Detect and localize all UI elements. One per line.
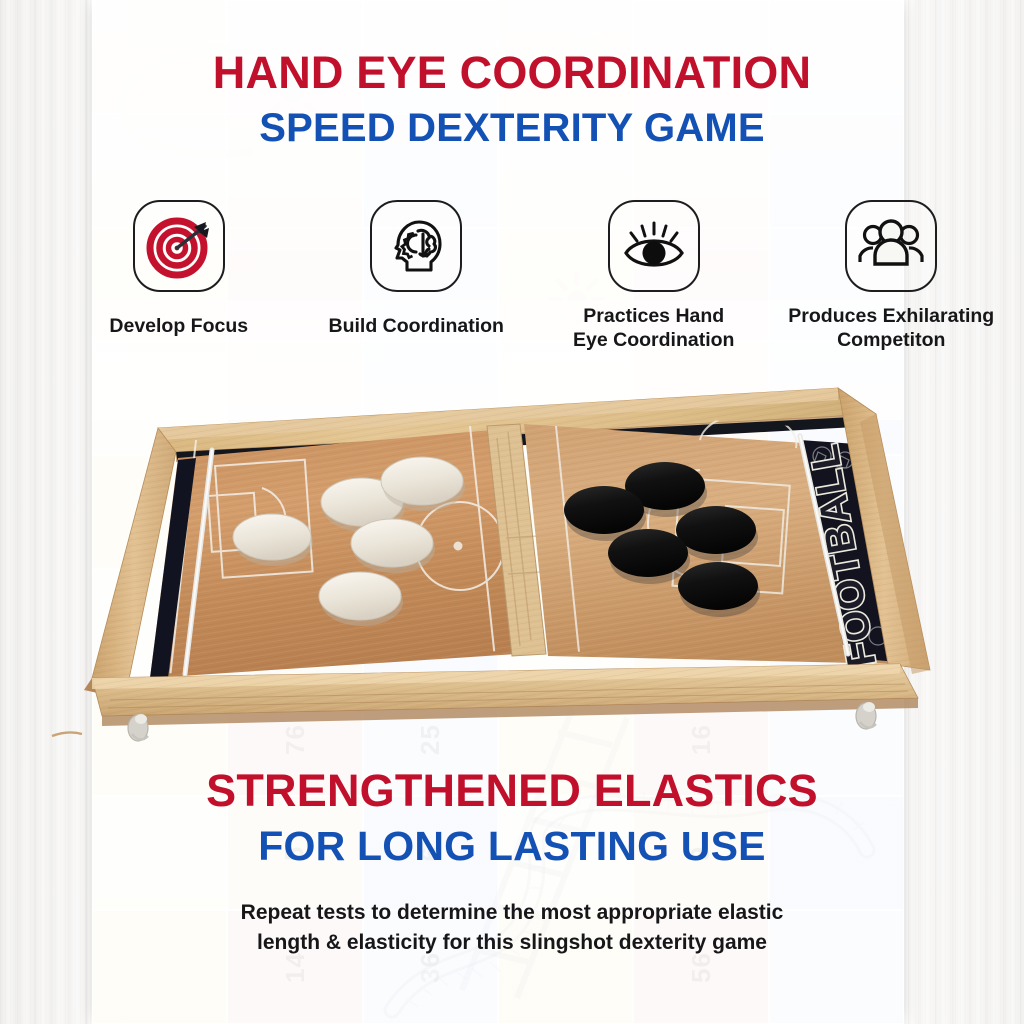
elastic-anchor-peg-left bbox=[128, 714, 148, 741]
icon-box-practices-hand-eye bbox=[608, 200, 700, 292]
elastic-anchor-peg-right bbox=[856, 702, 876, 729]
people-group-icon bbox=[858, 219, 924, 273]
product-photo-sling-puck-board: FOOTBALL bbox=[0, 378, 1024, 788]
white-puck bbox=[319, 572, 401, 620]
target-arrow-icon bbox=[146, 213, 212, 279]
feature-produces-competition: Produces Exhilarating Competiton bbox=[773, 200, 1011, 353]
feature-label-line2: Competiton bbox=[788, 328, 994, 352]
feature-label-develop-focus: Develop Focus bbox=[109, 314, 248, 338]
bottom-subtext-line2: length & elasticity for this slingshot d… bbox=[0, 928, 1024, 958]
icon-box-develop-focus bbox=[133, 200, 225, 292]
black-puck bbox=[676, 506, 756, 554]
black-puck bbox=[608, 529, 688, 577]
top-headline-line1: HAND EYE COORDINATION bbox=[0, 50, 1024, 95]
feature-label-produces-competition: Produces Exhilarating Competiton bbox=[788, 304, 994, 353]
product-marketing-image: 948795869685762516569143656 bbox=[0, 0, 1024, 1024]
feature-label-build-coordination: Build Coordination bbox=[329, 314, 504, 338]
top-headline-line2: SPEED DEXTERITY GAME bbox=[0, 108, 1024, 148]
feature-build-coordination: Build Coordination bbox=[298, 200, 536, 353]
feature-label-line1: Produces Exhilarating bbox=[788, 304, 994, 328]
icon-box-produces-competition bbox=[845, 200, 937, 292]
bottom-headline: STRENGTHENED ELASTICS FOR LONG LASTING U… bbox=[0, 768, 1024, 867]
eye-icon bbox=[620, 215, 688, 277]
feature-practices-hand-eye: Practices Hand Eye Coordination bbox=[535, 200, 773, 353]
bottom-headline-line2: FOR LONG LASTING USE bbox=[0, 826, 1024, 867]
wood-shaving-detail bbox=[52, 732, 82, 736]
black-puck bbox=[564, 486, 644, 534]
sling-puck-board-illustration: FOOTBALL bbox=[0, 378, 1024, 788]
feature-label-practices-hand-eye: Practices Hand Eye Coordination bbox=[573, 304, 734, 353]
white-puck bbox=[233, 514, 311, 560]
bottom-subtext: Repeat tests to determine the most appro… bbox=[0, 898, 1024, 959]
bottom-headline-line1: STRENGTHENED ELASTICS bbox=[0, 768, 1024, 813]
bottom-subtext-line1: Repeat tests to determine the most appro… bbox=[0, 898, 1024, 928]
icon-box-build-coordination bbox=[370, 200, 462, 292]
feature-label-line2: Eye Coordination bbox=[573, 328, 734, 352]
black-puck bbox=[678, 562, 758, 610]
white-puck bbox=[351, 519, 433, 567]
white-puck bbox=[381, 457, 463, 505]
brain-head-gear-icon bbox=[385, 215, 447, 277]
feature-list: Develop Focus Build Coordination bbox=[60, 200, 1010, 353]
top-headline: HAND EYE COORDINATION SPEED DEXTERITY GA… bbox=[0, 50, 1024, 148]
feature-develop-focus: Develop Focus bbox=[60, 200, 298, 353]
feature-label-line1: Practices Hand bbox=[573, 304, 734, 328]
